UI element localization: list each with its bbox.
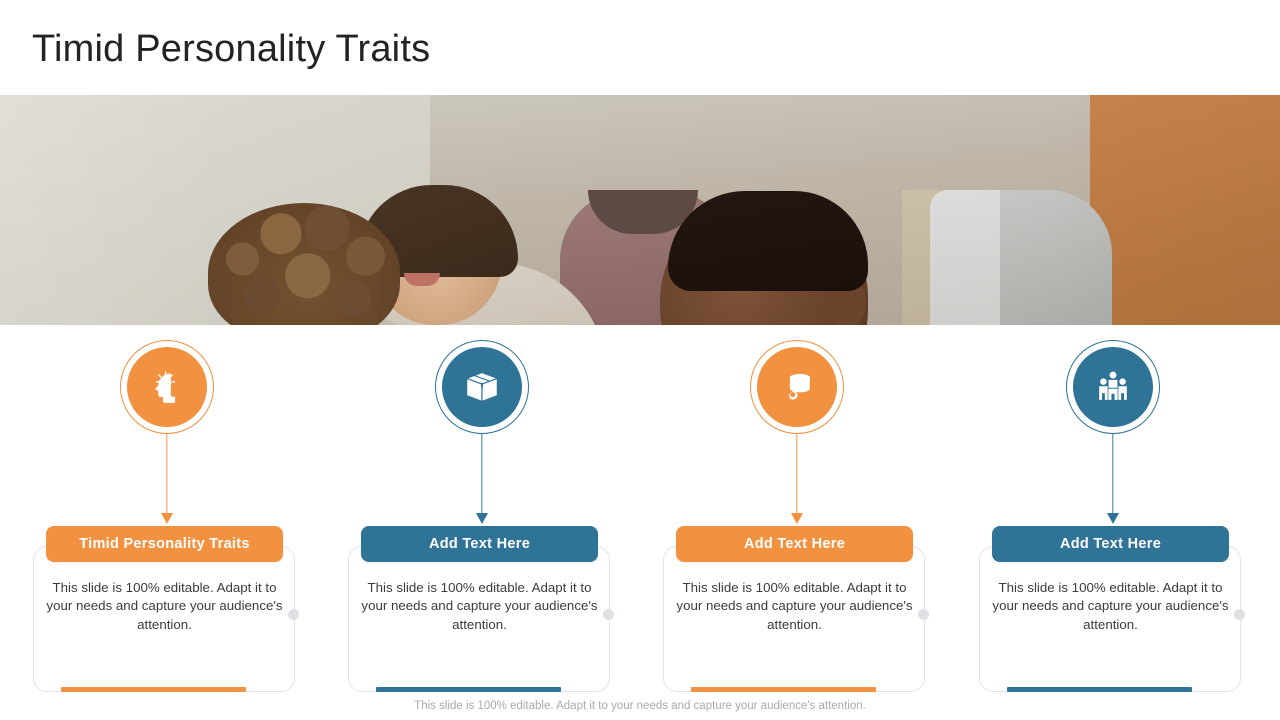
banner-photo: [0, 95, 1280, 325]
card-label-pill-3[interactable]: Add Text Here: [676, 526, 913, 562]
connector-arrow-2: [332, 434, 632, 526]
card-label-text: Add Text Here: [1060, 536, 1161, 552]
banner-person-man-hair: [668, 191, 868, 291]
card-accent-bar-4: [1007, 687, 1192, 692]
card-body-text-2: This slide is 100% editable. Adapt it to…: [361, 562, 598, 634]
feature-column-1: Timid Personality Traits This slide is 1…: [17, 340, 317, 634]
card-node-dot: [918, 609, 929, 620]
connector-arrow-1: [17, 434, 317, 526]
feature-column-4: Add Text Here This slide is 100% editabl…: [963, 340, 1263, 634]
card-node-dot: [603, 609, 614, 620]
connector-arrow-3: [647, 434, 947, 526]
card-label-text: Add Text Here: [744, 536, 845, 552]
card-accent-bar-3: [691, 687, 876, 692]
card-body-text-1: This slide is 100% editable. Adapt it to…: [46, 562, 283, 634]
card-label-pill-4[interactable]: Add Text Here: [992, 526, 1229, 562]
head-with-lightbulb-icon: [127, 347, 207, 427]
banner-wall-right: [1090, 95, 1280, 325]
card-accent-bar-2: [376, 687, 561, 692]
icon-badge-4[interactable]: [1066, 340, 1160, 434]
card-body-text-3: This slide is 100% editable. Adapt it to…: [676, 562, 913, 634]
card-accent-bar-1: [61, 687, 246, 692]
card-label-pill-2[interactable]: Add Text Here: [361, 526, 598, 562]
package-box-icon: [442, 347, 522, 427]
page-title: Timid Personality Traits: [32, 28, 430, 71]
database-gear-icon: [757, 347, 837, 427]
feature-column-2: Add Text Here This slide is 100% editabl…: [332, 340, 632, 634]
card-node-dot: [288, 609, 299, 620]
connector-arrow-4: [963, 434, 1263, 526]
people-group-icon: [1073, 347, 1153, 427]
card-body-text-4: This slide is 100% editable. Adapt it to…: [992, 562, 1229, 634]
feature-card-2: Add Text Here This slide is 100% editabl…: [348, 526, 616, 634]
card-label-text: Timid Personality Traits: [79, 536, 250, 552]
icon-badge-2[interactable]: [435, 340, 529, 434]
feature-card-4: Add Text Here This slide is 100% editabl…: [979, 526, 1247, 634]
card-label-text: Add Text Here: [429, 536, 530, 552]
icon-badge-3[interactable]: [750, 340, 844, 434]
card-label-pill-1[interactable]: Timid Personality Traits: [46, 526, 283, 562]
footer-note: This slide is 100% editable. Adapt it to…: [0, 700, 1280, 712]
card-node-dot: [1234, 609, 1245, 620]
feature-column-3: Add Text Here This slide is 100% editabl…: [647, 340, 947, 634]
slide-canvas: Timid Personality Traits: [0, 0, 1280, 720]
icon-badge-1[interactable]: [120, 340, 214, 434]
feature-card-1: Timid Personality Traits This slide is 1…: [33, 526, 301, 634]
banner-person-right-lapel: [930, 190, 1000, 325]
feature-card-3: Add Text Here This slide is 100% editabl…: [663, 526, 931, 634]
